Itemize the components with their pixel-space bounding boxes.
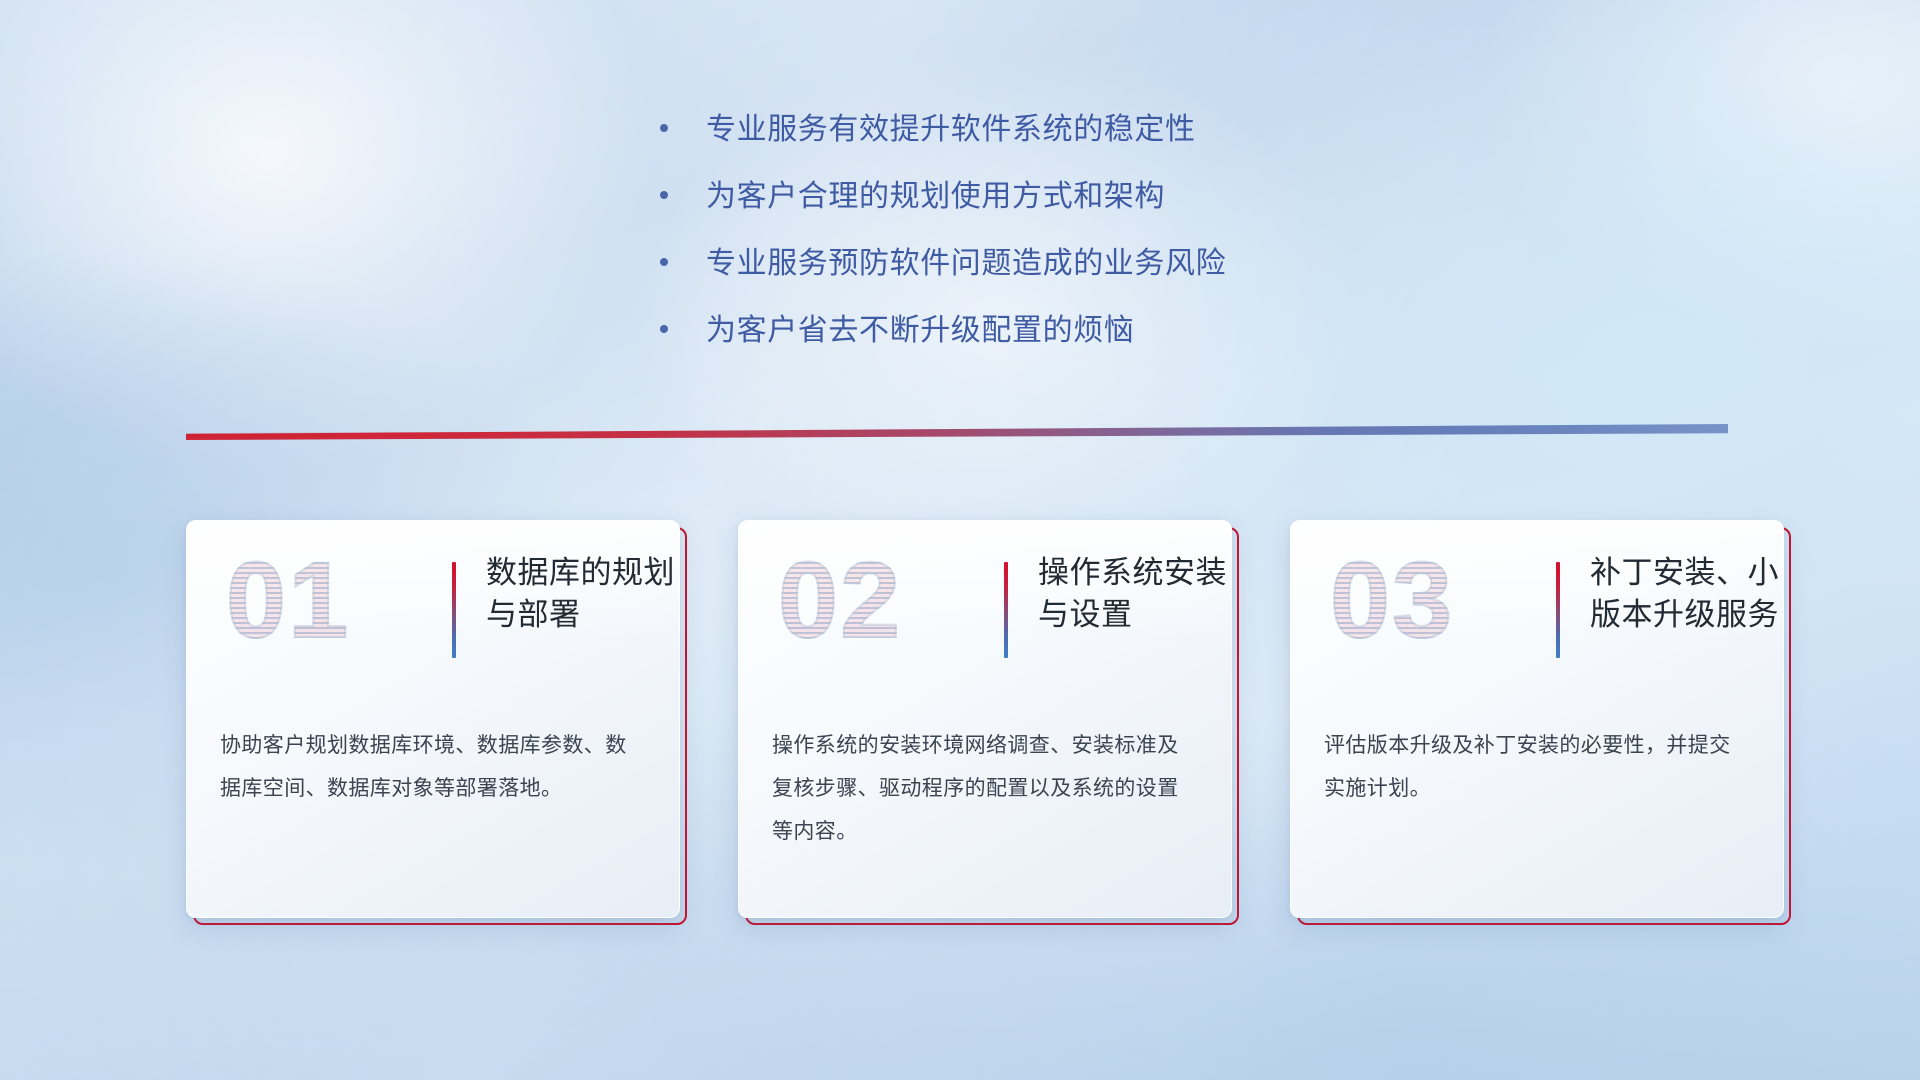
bullet-text: 专业服务预防软件问题造成的业务风险 <box>706 246 1226 282</box>
card-body-text: 操作系统的安装环境网络调查、安装标准及复核步骤、驱动程序的配置以及系统的设置等内… <box>772 724 1198 853</box>
list-item: 为客户合理的规划使用方式和架构 <box>660 179 1226 215</box>
bullet-text: 为客户合理的规划使用方式和架构 <box>706 179 1165 215</box>
service-card-row: 01 01 数据库的规划与部署 协助客户规划数据库环境、数据库参数、数据库空间、… <box>186 520 1784 918</box>
card-title: 补丁安装、小版本升级服务 <box>1590 552 1784 636</box>
card-vertical-rule-icon <box>1004 562 1008 658</box>
list-item: 专业服务预防软件问题造成的业务风险 <box>660 246 1226 282</box>
card-number-watermark: 02 <box>778 546 902 654</box>
bullet-dot-icon <box>660 191 668 199</box>
card-vertical-rule-icon <box>452 562 456 658</box>
card-number-watermark: 03 <box>1330 546 1454 654</box>
card-header: 01 01 数据库的规划与部署 <box>220 556 646 682</box>
card-header: 02 02 操作系统安装与设置 <box>772 556 1198 682</box>
service-card-02[interactable]: 02 02 操作系统安装与设置 操作系统的安装环境网络调查、安装标准及复核步骤、… <box>738 520 1232 918</box>
card-body-text: 协助客户规划数据库环境、数据库参数、数据库空间、数据库对象等部署落地。 <box>220 724 646 810</box>
bullet-dot-icon <box>660 325 668 333</box>
card-surface[interactable]: 01 01 数据库的规划与部署 协助客户规划数据库环境、数据库参数、数据库空间、… <box>186 520 680 918</box>
card-header: 03 03 补丁安装、小版本升级服务 <box>1324 556 1750 682</box>
service-card-01[interactable]: 01 01 数据库的规划与部署 协助客户规划数据库环境、数据库参数、数据库空间、… <box>186 520 680 918</box>
bullet-text: 专业服务有效提升软件系统的稳定性 <box>706 112 1196 148</box>
card-title: 数据库的规划与部署 <box>486 552 680 636</box>
benefits-bullet-list: 专业服务有效提升软件系统的稳定性 为客户合理的规划使用方式和架构 专业服务预防软… <box>660 112 1226 380</box>
bullet-text: 为客户省去不断升级配置的烦恼 <box>706 313 1134 349</box>
card-title: 操作系统安装与设置 <box>1038 552 1232 636</box>
bullet-dot-icon <box>660 258 668 266</box>
card-vertical-rule-icon <box>1556 562 1560 658</box>
card-body-text: 评估版本升级及补丁安装的必要性，并提交实施计划。 <box>1324 724 1750 810</box>
bullet-dot-icon <box>660 124 668 132</box>
list-item: 为客户省去不断升级配置的烦恼 <box>660 313 1226 349</box>
list-item: 专业服务有效提升软件系统的稳定性 <box>660 112 1226 148</box>
section-divider <box>186 424 1728 440</box>
card-number-watermark: 01 <box>226 546 350 654</box>
service-card-03[interactable]: 03 03 补丁安装、小版本升级服务 评估版本升级及补丁安装的必要性，并提交实施… <box>1290 520 1784 918</box>
card-surface[interactable]: 02 02 操作系统安装与设置 操作系统的安装环境网络调查、安装标准及复核步骤、… <box>738 520 1232 918</box>
card-surface[interactable]: 03 03 补丁安装、小版本升级服务 评估版本升级及补丁安装的必要性，并提交实施… <box>1290 520 1784 918</box>
divider-tapered-bar <box>186 424 1728 440</box>
